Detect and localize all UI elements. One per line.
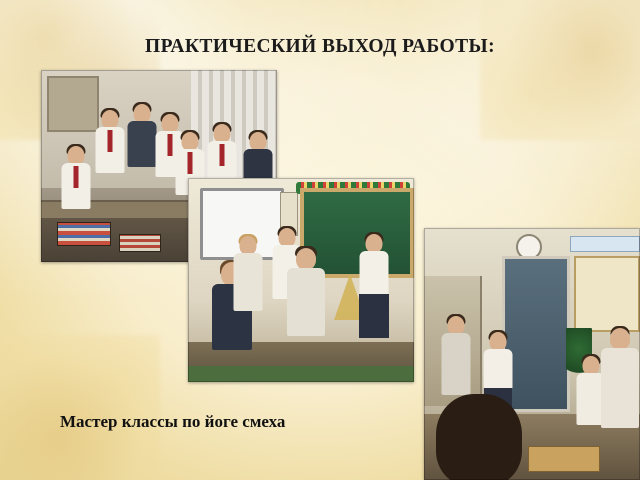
photo-lesson-greenboard: [188, 178, 414, 382]
page-title: ПРАКТИЧЕСКИЙ ВЫХОД РАБОТЫ:: [0, 36, 640, 58]
person-torso: [484, 349, 513, 389]
photo-floor-strip: [188, 366, 414, 382]
corner-floral-top-right-icon: [480, 0, 640, 140]
person-tie: [108, 130, 113, 152]
corner-floral-bottom-left-icon: [0, 335, 160, 480]
photo-person: [356, 234, 392, 340]
photo-person: [286, 248, 326, 344]
person-tie: [168, 134, 173, 156]
slide-caption: Мастер классы по йоге смеха: [60, 412, 285, 432]
photo-corridor-group: [424, 228, 640, 480]
photo-wall-board: [47, 76, 99, 132]
person-tie: [220, 144, 225, 166]
presentation-slide: ПРАКТИЧЕСКИЙ ВЫХОД РАБОТЫ:: [0, 0, 640, 480]
photo-books: [57, 222, 111, 246]
person-skirt: [359, 294, 389, 338]
photo-person: [93, 110, 127, 180]
person-torso: [442, 333, 471, 395]
person-torso: [234, 253, 263, 311]
person-head: [296, 248, 316, 270]
photo-foreground-head: [436, 394, 522, 480]
person-torso: [360, 251, 389, 295]
person-tie: [188, 152, 193, 174]
person-torso: [287, 268, 325, 336]
person-torso: [601, 348, 639, 428]
person-head: [610, 328, 630, 350]
photo-books: [119, 234, 161, 252]
photo-person: [59, 146, 93, 216]
photo-banner: [570, 236, 640, 252]
photo-person: [600, 328, 640, 448]
photo-noticeboard: [574, 256, 640, 332]
photo-desk: [528, 446, 600, 472]
person-tie: [74, 166, 79, 188]
photo-person: [230, 236, 266, 322]
